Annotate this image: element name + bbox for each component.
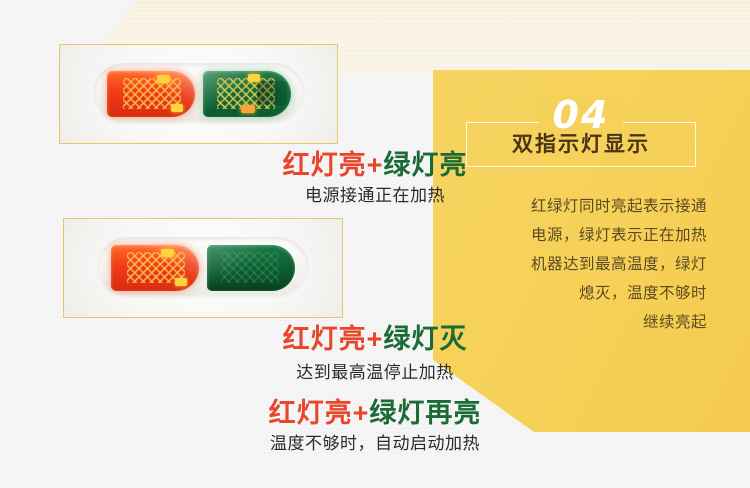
red-indicator-lamp-on — [111, 245, 199, 291]
caption-3-plus: + — [353, 398, 370, 428]
green-indicator-lamp-off — [207, 245, 295, 291]
lamp-highlight — [157, 75, 170, 83]
red-lens — [111, 245, 199, 291]
appliance-panel-photo — [64, 219, 342, 317]
red-indicator-lamp-on — [107, 71, 195, 117]
lens-shadow — [257, 81, 287, 105]
lamp-highlight — [248, 74, 260, 82]
lamp-highlight — [161, 249, 174, 257]
caption-1-green-text: 绿灯亮 — [383, 150, 467, 180]
caption-2-subtitle: 达到最高温停止加热 — [0, 363, 750, 383]
caption-1-red-text: 红灯亮 — [283, 150, 367, 180]
caption-2-red-text: 红灯亮 — [283, 324, 367, 354]
caption-1-plus: + — [367, 150, 384, 180]
panel-body-line: 电源，绿灯表示正在加热 — [445, 221, 707, 250]
panel-body-line: 机器达到最高温度，绿灯 — [445, 250, 707, 279]
caption-3-red-text: 红灯亮 — [269, 398, 353, 428]
lamp-highlight — [241, 105, 255, 113]
caption-3-headline: 红灯亮+绿灯再亮 — [0, 398, 750, 428]
photo-frame-both-lights-on — [59, 44, 338, 144]
caption-1-headline: 红灯亮+绿灯亮 — [0, 150, 750, 180]
section-number: 04 — [539, 96, 624, 134]
green-indicator-lamp-on — [203, 71, 291, 117]
panel-body-text: 红绿灯同时亮起表示接通 电源，绿灯表示正在加热 机器达到最高温度，绿灯 熄灭，温… — [445, 192, 707, 337]
caption-2-green-text: 绿灯灭 — [383, 324, 467, 354]
green-lens — [207, 245, 295, 291]
lens-grille — [221, 252, 279, 282]
lamp-highlight — [170, 104, 182, 112]
indicator-housing — [93, 63, 305, 125]
caption-3-green-text: 绿灯再亮 — [369, 398, 481, 428]
caption-2-plus: + — [367, 324, 384, 354]
indicator-housing — [97, 237, 309, 299]
lamp-highlight — [175, 278, 187, 286]
green-lens — [203, 71, 291, 117]
section-number-badge: 04 — [467, 96, 695, 134]
red-lens — [107, 71, 195, 117]
caption-2-headline: 红灯亮+绿灯灭 — [0, 324, 750, 354]
panel-body-line: 熄灭，温度不够时 — [445, 279, 707, 308]
photo-frame-green-light-off — [63, 218, 343, 318]
appliance-panel-photo — [60, 45, 337, 143]
caption-1-subtitle: 电源接通正在加热 — [0, 186, 750, 206]
caption-3-subtitle: 温度不够时，自动启动加热 — [0, 434, 750, 454]
